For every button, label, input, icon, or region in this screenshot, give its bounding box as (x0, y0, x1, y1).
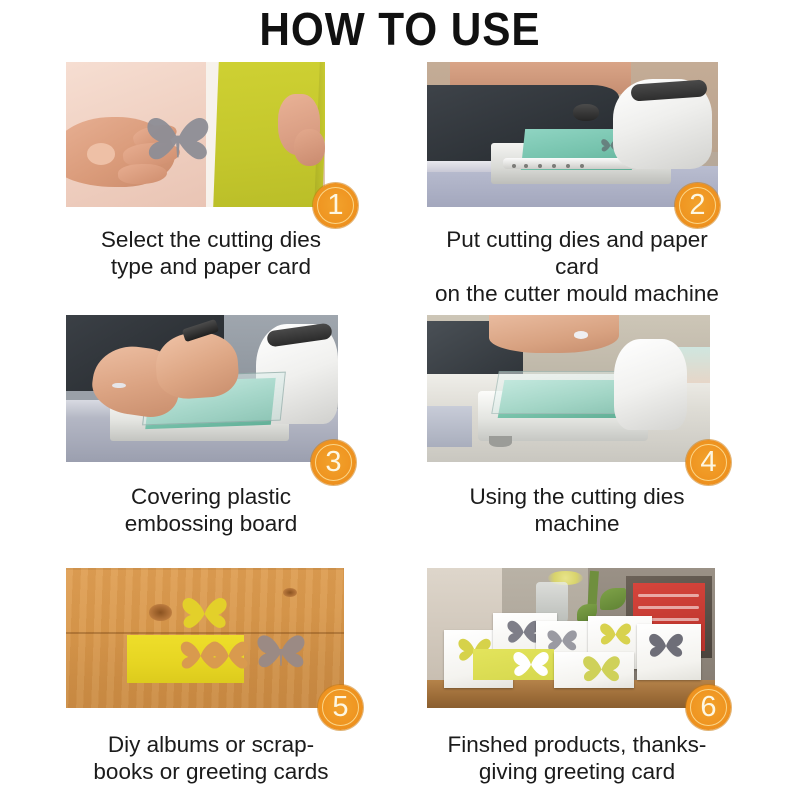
step-4-caption: Using the cutting dies machine (427, 483, 727, 537)
step-badge-6: 6 (686, 685, 731, 730)
step-2-photo (427, 62, 718, 207)
machine-knob (573, 104, 599, 121)
metal-butterfly-die-icon (249, 630, 313, 675)
finger-ring (574, 331, 588, 338)
step-1-caption: Select the cutting dies type and paper c… (66, 226, 356, 280)
step-3-photo (66, 315, 338, 462)
infographic-page: HOW TO USE 1 Select the cutting (0, 0, 800, 800)
table-left-edge (427, 406, 472, 447)
step-badge-1: 1 (313, 183, 358, 228)
step-4-photo (427, 315, 710, 462)
wood-knot (283, 588, 297, 598)
step-2-caption: Put cutting dies and paper card on the c… (427, 226, 727, 307)
step-3-caption: Covering plastic embossing board (66, 483, 356, 537)
page-title: HOW TO USE (32, 2, 768, 56)
butterfly-cut-hole-2-icon (205, 635, 252, 677)
card-butterfly-icon (508, 648, 554, 682)
card-butterfly-icon (643, 630, 689, 662)
wood-knot (149, 604, 171, 621)
thumb (87, 143, 115, 165)
machine-body (614, 339, 688, 430)
step-card-5: 5 Diy albums or scrap- books or greeting… (66, 568, 356, 800)
step-card-2: 2 Put cutting dies and paper card on the… (427, 62, 727, 292)
step-badge-4: 4 (686, 440, 731, 485)
card-butterfly-icon (577, 652, 626, 687)
step-6-caption: Finshed products, thanks- giving greetin… (427, 731, 727, 785)
machine-foot (489, 436, 512, 448)
step-card-6: 6 Finshed products, thanks- giving greet… (427, 568, 727, 800)
step-card-3: 3 Covering plastic embossing board (66, 315, 356, 550)
step-badge-2: 2 (675, 183, 720, 228)
step-badge-5: 5 (318, 685, 363, 730)
step-badge-4-number: 4 (700, 448, 716, 477)
step-badge-3: 3 (311, 440, 356, 485)
person-arm (489, 315, 619, 353)
step-badge-5-number: 5 (332, 693, 348, 722)
step-card-4: 4 Using the cutting dies machine (427, 315, 727, 550)
step-badge-2-number: 2 (689, 191, 705, 220)
step-5-photo (66, 568, 344, 708)
step-badge-3-number: 3 (325, 448, 341, 477)
step-1-photo (66, 62, 325, 207)
step-badge-1-number: 1 (327, 191, 343, 220)
step-card-1: 1 Select the cutting dies type and paper… (66, 62, 356, 292)
step-badge-6-number: 6 (700, 693, 716, 722)
butterfly-die-icon (139, 111, 217, 169)
yellow-butterfly-cutout-icon (174, 593, 235, 635)
step-6-photo (427, 568, 715, 708)
roller-screws (508, 164, 595, 170)
step-5-caption: Diy albums or scrap- books or greeting c… (66, 731, 356, 785)
right-hand-fingers (294, 129, 325, 167)
card-butterfly-icon (594, 620, 637, 649)
